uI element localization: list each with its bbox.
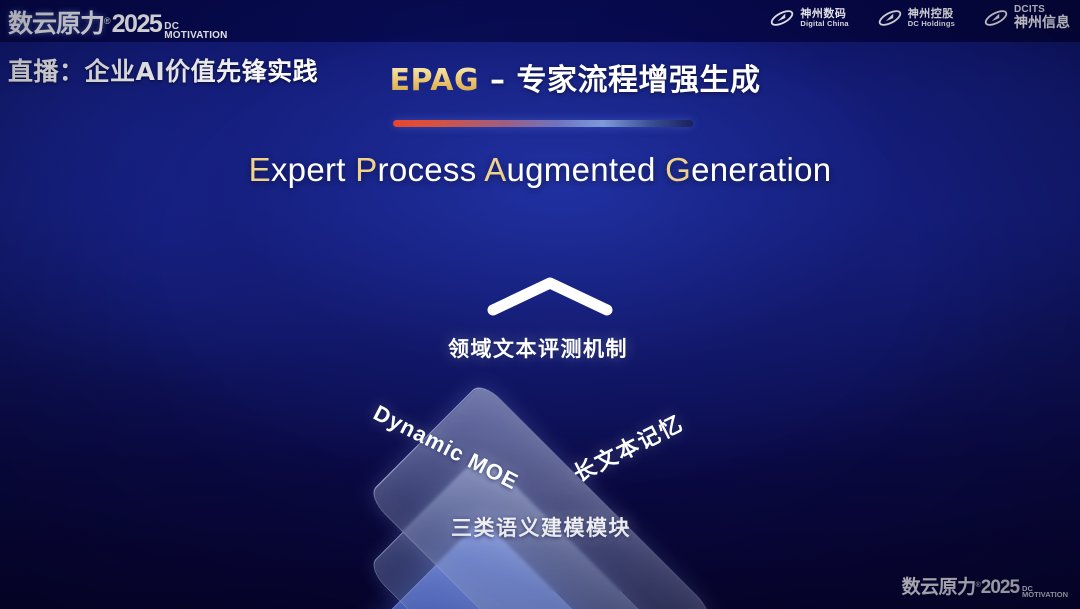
subtitle-initial-p: P [355, 151, 377, 188]
brand-logo: 数云原力®2025 DC MOTIVATION [8, 4, 228, 43]
subtitle-initial-a: A [484, 151, 506, 188]
gradient-divider [393, 120, 693, 127]
logo-digital-china: 神州数码 Digital China [769, 5, 848, 31]
page-title: EPAG – 专家流程增强生成 [0, 55, 1080, 99]
subtitle-word-generation: eneration [691, 151, 831, 188]
partner-logo-group: 神州数码 Digital China 神州控股 DC Holdings DCIT… [769, 5, 1070, 31]
footer-watermark: 数云原力®2025 DC MOTIVATION [902, 572, 1068, 602]
stack-label-long-text-memory: 长文本记忆 [567, 406, 688, 489]
subtitle-word-augmented: ugmented [507, 151, 666, 188]
stack-label-top: 领域文本评测机制 [448, 333, 628, 363]
brand-name-cn: 数云原力 [8, 4, 104, 40]
stack-plate-top [367, 381, 716, 609]
logo-name-cn: 神州信息 [1014, 16, 1070, 31]
brand-motivation-label: MOTIVATION [164, 31, 227, 40]
swirl-logo-icon [983, 5, 1009, 31]
logo-dc-holdings: 神州控股 DC Holdings [877, 5, 955, 31]
swirl-logo-icon [769, 5, 795, 31]
subtitle-word-expert: xpert [271, 151, 355, 188]
watermark-year: 2025 [981, 577, 1019, 599]
logo-text: 神州控股 DC Holdings [908, 8, 955, 27]
brand-registered-mark: ® [104, 16, 111, 26]
watermark-registered-mark: ® [976, 582, 981, 589]
watermark-dc-motivation: DC MOTIVATION [1022, 586, 1068, 600]
watermark-motivation-label: MOTIVATION [1022, 592, 1068, 599]
subtitle-initial-e: E [249, 151, 271, 188]
watermark-name-cn: 数云原力 [902, 572, 976, 599]
swirl-logo-icon [877, 5, 903, 31]
title-abbreviation: EPAG [390, 63, 480, 98]
logo-name-en: DC Holdings [908, 20, 955, 28]
logo-text: DCITS 神州信息 [1014, 5, 1070, 30]
subtitle-word-process: rocess [378, 151, 485, 188]
brand-dc-motivation: DC MOTIVATION [164, 22, 227, 40]
chevron-up-icon [487, 276, 613, 316]
title-chinese: 专家流程增强生成 [516, 63, 760, 98]
logo-name-en: Digital China [800, 20, 848, 28]
stack-plate-bottom [367, 519, 716, 609]
subtitle-initial-g: G [665, 151, 691, 188]
stack-label-dynamic-moe: Dynamic MOE [369, 400, 522, 495]
stack-label-bottom: 三类语义建模模块 [451, 512, 631, 542]
logo-dcits: DCITS 神州信息 [983, 5, 1070, 31]
slide-canvas: 数云原力®2025 DC MOTIVATION 直播：企业AI价值先锋实践 神州… [0, 0, 1080, 609]
logo-text: 神州数码 Digital China [800, 8, 848, 27]
title-dash: – [479, 63, 516, 98]
page-subtitle: Expert Process Augmented Generation [0, 151, 1080, 189]
brand-year: 2025 [112, 10, 162, 39]
logo-name-en: DCITS [1014, 5, 1070, 16]
stack-plate-middle [367, 453, 716, 609]
